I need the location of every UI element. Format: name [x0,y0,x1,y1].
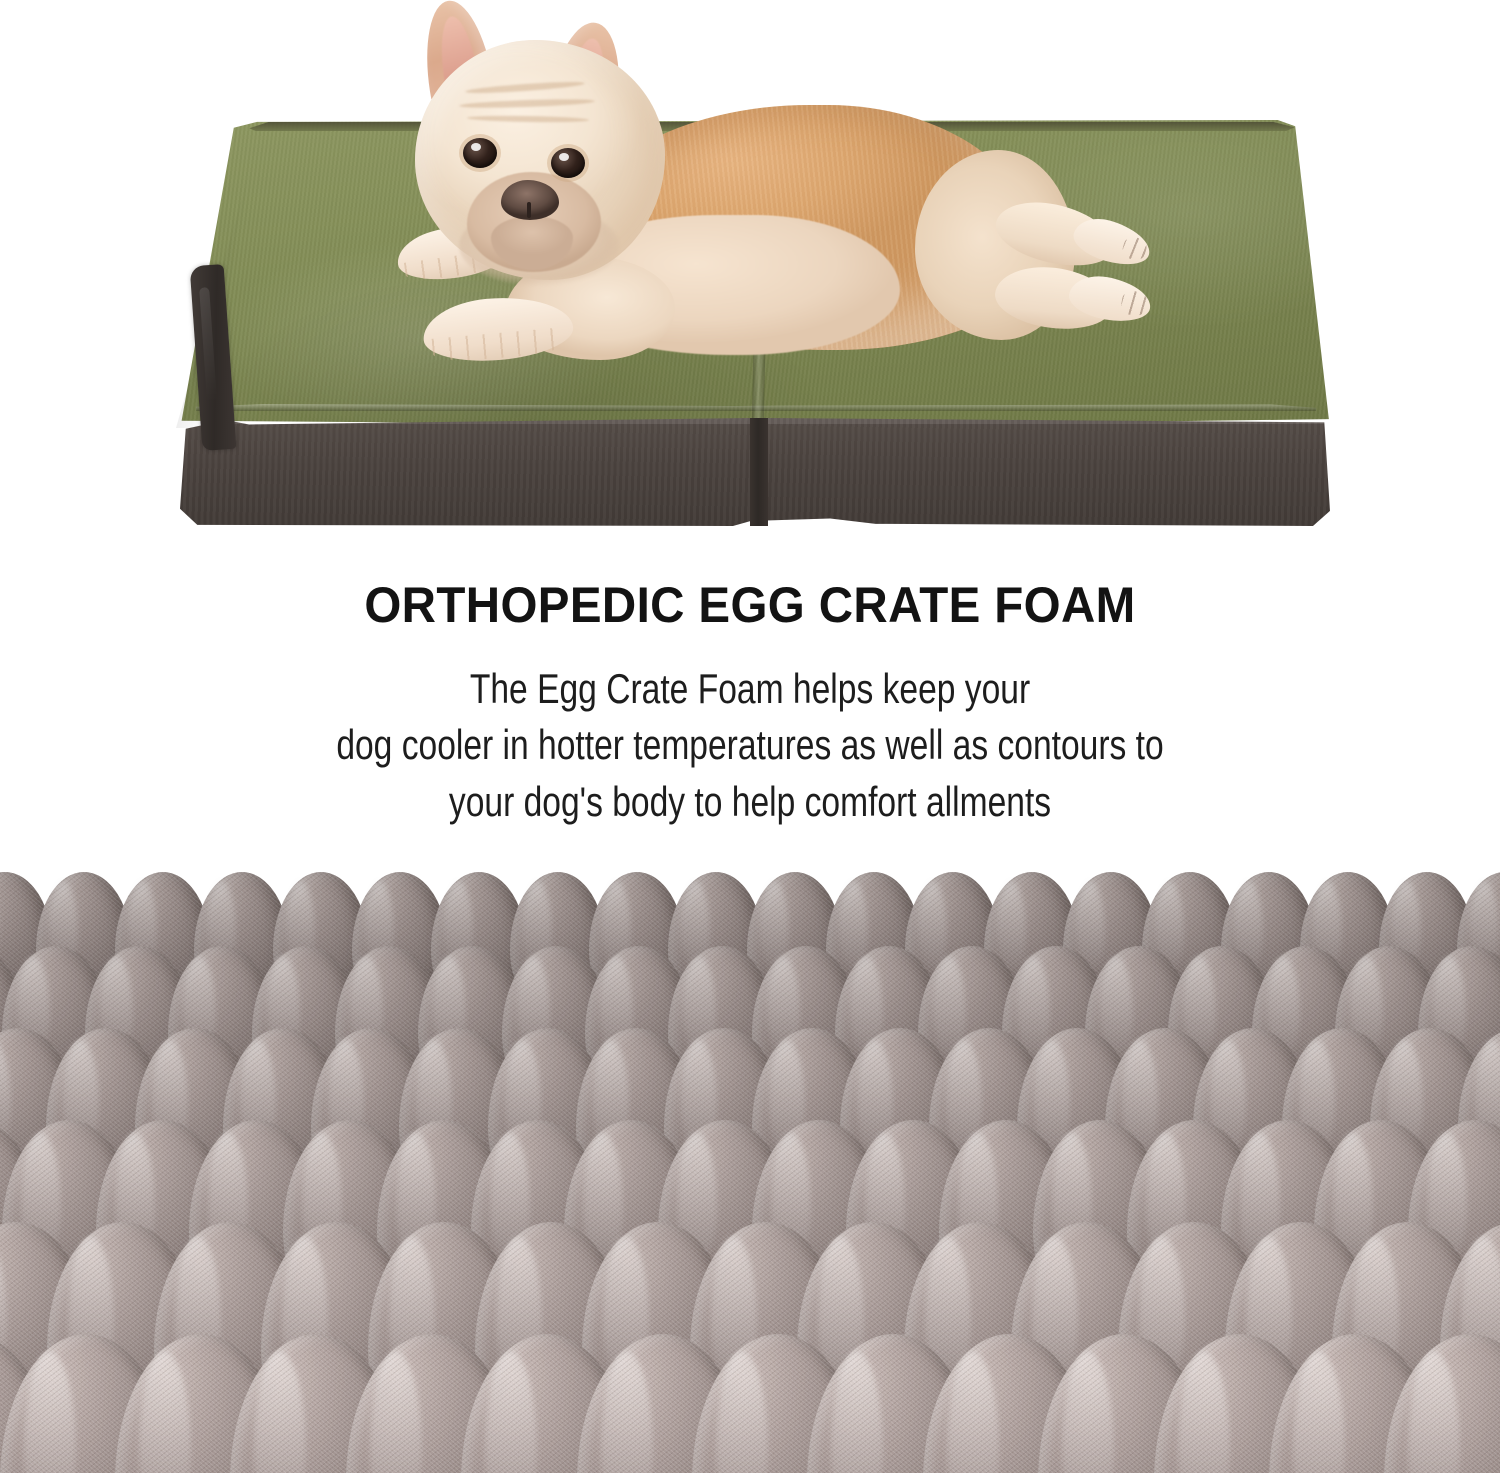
feature-heading: ORTHOPEDIC EGG CRATE FOAM [38,560,1463,633]
dog-eye-right [551,148,585,178]
egg-crate-foam-image [0,862,1500,1473]
dog-nose [501,180,559,220]
dog-bed-side-panel-right [762,418,1330,526]
dog-eye-left [463,138,497,168]
french-bulldog [355,0,1145,420]
dog-bed-side-panel-left [180,418,756,526]
product-hero-image [0,0,1500,560]
feature-description: The Egg Crate Foam helps keep your dog c… [150,661,1350,830]
feature-text-block: ORTHOPEDIC EGG CRATE FOAM The Egg Crate … [0,560,1500,862]
foam-row [0,1324,1500,1473]
dog-bed-fold-notch [750,418,768,526]
